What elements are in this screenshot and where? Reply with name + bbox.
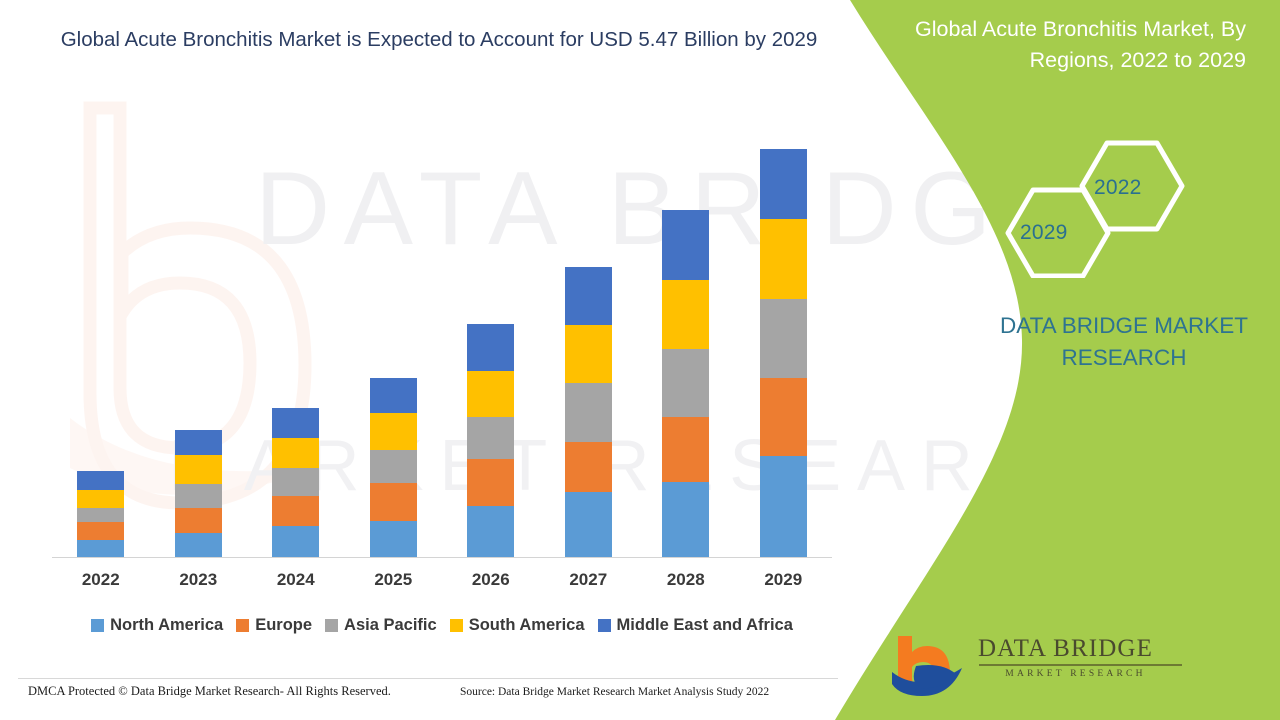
- bar-segment[interactable]: [467, 459, 514, 506]
- bar-segment[interactable]: [467, 371, 514, 417]
- bar-segment[interactable]: [272, 496, 319, 527]
- hex-badge-2029-label: 2029: [1020, 221, 1068, 245]
- bar-segment[interactable]: [467, 324, 514, 371]
- legend-swatch-icon: [450, 619, 463, 632]
- bar-stack: [370, 378, 417, 557]
- bar-stack: [175, 430, 222, 557]
- bar-stack: [760, 149, 807, 557]
- chart-legend: North AmericaEuropeAsia PacificSouth Ame…: [52, 616, 832, 635]
- bar-column-2025[interactable]: [345, 150, 443, 557]
- legend-swatch-icon: [598, 619, 611, 632]
- chart-title: Global Acute Bronchitis Market is Expect…: [54, 24, 824, 55]
- bar-stack: [77, 471, 124, 557]
- bar-segment[interactable]: [370, 483, 417, 521]
- data-bridge-logo: DATA BRIDGE MARKET RESEARCH: [890, 632, 1190, 698]
- bar-segment[interactable]: [370, 450, 417, 483]
- chart-plot-area: [52, 150, 832, 558]
- logo-subtitle: MARKET RESEARCH: [978, 669, 1173, 679]
- bar-segment[interactable]: [77, 522, 124, 540]
- legend-item-middle-east-and-africa[interactable]: Middle East and Africa: [598, 616, 793, 635]
- legend-item-north-america[interactable]: North America: [91, 616, 223, 635]
- bar-segment[interactable]: [467, 417, 514, 459]
- bar-column-2029[interactable]: [735, 150, 833, 557]
- bar-segment[interactable]: [370, 378, 417, 413]
- bar-segment[interactable]: [662, 417, 709, 482]
- legend-label: Asia Pacific: [344, 616, 437, 635]
- bar-segment[interactable]: [175, 455, 222, 483]
- legend-swatch-icon: [236, 619, 249, 632]
- bar-stack: [467, 324, 514, 557]
- x-axis-label: 2026: [442, 570, 540, 590]
- bar-segment[interactable]: [760, 456, 807, 557]
- x-axis-label: 2028: [637, 570, 735, 590]
- bar-segment[interactable]: [760, 149, 807, 219]
- bar-segment[interactable]: [175, 484, 222, 508]
- bar-segment[interactable]: [77, 508, 124, 522]
- bar-segment[interactable]: [760, 299, 807, 378]
- legend-item-asia-pacific[interactable]: Asia Pacific: [325, 616, 437, 635]
- bar-segment[interactable]: [662, 482, 709, 557]
- bar-segment[interactable]: [77, 490, 124, 508]
- legend-item-south-america[interactable]: South America: [450, 616, 585, 635]
- bar-stack: [565, 267, 612, 557]
- x-axis-label: 2024: [247, 570, 345, 590]
- bar-series-container: [52, 150, 832, 557]
- x-axis-label: 2022: [52, 570, 150, 590]
- x-axis-label: 2023: [150, 570, 248, 590]
- bar-column-2028[interactable]: [637, 150, 735, 557]
- bar-segment[interactable]: [565, 383, 612, 442]
- hex-badge-2022-label: 2022: [1094, 176, 1142, 200]
- bar-column-2022[interactable]: [52, 150, 150, 557]
- x-axis-label: 2029: [735, 570, 833, 590]
- panel-title: Global Acute Bronchitis Market, By Regio…: [896, 14, 1246, 75]
- hexagon-badge-group: 2022 2029: [985, 138, 1185, 278]
- bar-segment[interactable]: [565, 492, 612, 557]
- bar-segment[interactable]: [77, 471, 124, 491]
- bar-column-2027[interactable]: [540, 150, 638, 557]
- legend-swatch-icon: [91, 619, 104, 632]
- legend-label: North America: [110, 616, 223, 635]
- bar-segment[interactable]: [175, 533, 222, 557]
- logo-divider: [979, 664, 1182, 666]
- legend-label: Middle East and Africa: [617, 616, 793, 635]
- legend-label: Europe: [255, 616, 312, 635]
- footer-copyright: DMCA Protected © Data Bridge Market Rese…: [28, 684, 391, 699]
- x-axis-label: 2025: [345, 570, 443, 590]
- bar-segment[interactable]: [565, 267, 612, 325]
- bar-segment[interactable]: [565, 442, 612, 492]
- bar-segment[interactable]: [272, 526, 319, 557]
- legend-label: South America: [469, 616, 585, 635]
- bar-segment[interactable]: [565, 325, 612, 383]
- logo-title: DATA BRIDGE: [978, 636, 1188, 662]
- bar-segment[interactable]: [175, 508, 222, 533]
- bar-stack: [272, 408, 319, 557]
- footer-divider: [18, 678, 838, 679]
- legend-item-europe[interactable]: Europe: [236, 616, 312, 635]
- bar-segment[interactable]: [272, 468, 319, 495]
- bar-segment[interactable]: [760, 378, 807, 457]
- bar-segment[interactable]: [77, 540, 124, 558]
- legend-swatch-icon: [325, 619, 338, 632]
- bar-segment[interactable]: [760, 219, 807, 299]
- x-axis-line: [52, 557, 832, 558]
- bar-column-2024[interactable]: [247, 150, 345, 557]
- bar-segment[interactable]: [175, 430, 222, 455]
- panel-brand-text: DATA BRIDGE MARKET RESEARCH: [968, 310, 1280, 374]
- bar-segment[interactable]: [370, 413, 417, 450]
- footer-source: Source: Data Bridge Market Research Mark…: [460, 686, 769, 698]
- bar-segment[interactable]: [662, 349, 709, 417]
- bar-segment[interactable]: [662, 210, 709, 280]
- data-bridge-logo-mark-icon: [890, 632, 974, 698]
- bar-segment[interactable]: [272, 438, 319, 469]
- x-axis-labels: 20222023202420252026202720282029: [52, 570, 832, 590]
- bar-segment[interactable]: [467, 506, 514, 557]
- infographic-root: DATA BRIDGE MARKET RESEARCH Global Acute…: [0, 0, 1280, 720]
- data-bridge-logo-text: DATA BRIDGE MARKET RESEARCH: [978, 636, 1188, 679]
- bar-segment[interactable]: [662, 280, 709, 349]
- hexagon-outlines-icon: [985, 138, 1185, 278]
- bar-stack: [662, 210, 709, 557]
- bar-segment[interactable]: [272, 408, 319, 438]
- bar-column-2026[interactable]: [442, 150, 540, 557]
- bar-column-2023[interactable]: [150, 150, 248, 557]
- x-axis-label: 2027: [540, 570, 638, 590]
- bar-segment[interactable]: [370, 521, 417, 557]
